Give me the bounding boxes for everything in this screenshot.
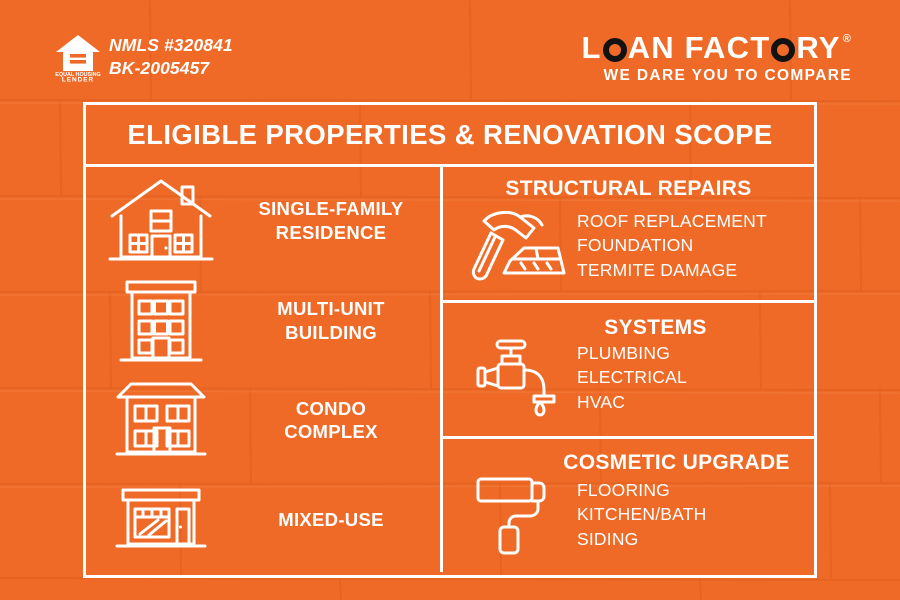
property-label: MIXED-USE: [236, 508, 440, 532]
title-bar: ELIGIBLE PROPERTIES & RENOVATION SCOPE: [86, 105, 814, 167]
list-item[interactable]: SINGLE-FAMILY RESIDENCE: [86, 171, 440, 271]
renovation-scope-column: STRUCTURAL REPAIRS: [443, 167, 814, 572]
nmls-number: NMLS #320841: [109, 34, 233, 57]
scope-title: STRUCTURAL REPAIRS: [451, 177, 806, 201]
brand-text-part2: AN FACT: [628, 32, 771, 63]
single-family-house-icon: [86, 175, 236, 267]
condo-complex-icon: [86, 378, 236, 462]
hammer-and-roof-icon: [451, 203, 577, 289]
scope-body: PLUMBING ELECTRICAL HVAC: [451, 334, 806, 422]
scope-block-cosmetic[interactable]: COSMETIC UPGRADE FLOORING KITCHEN/BATH: [443, 436, 814, 572]
infographic-frame: ELIGIBLE PROPERTIES & RENOVATION SCOPE: [83, 102, 817, 578]
brand-text-part3: RY: [796, 32, 840, 63]
scope-item: TERMITE DAMAGE: [577, 258, 806, 282]
scope-items: PLUMBING ELECTRICAL HVAC: [577, 341, 806, 413]
scope-item: SIDING: [577, 527, 806, 551]
scope-item: ELECTRICAL: [577, 365, 806, 389]
scope-items: FLOORING KITCHEN/BATH SIDING: [577, 478, 806, 550]
loan-factory-brand: L AN FACT RY ® WE DARE YOU TO COMPARE: [581, 32, 852, 85]
property-label-line1: MIXED-USE: [236, 508, 426, 532]
page-header: EQUAL HOUSING LENDER NMLS #320841 BK-200…: [0, 0, 900, 102]
property-label: SINGLE-FAMILY RESIDENCE: [236, 197, 440, 244]
scope-item: HVAC: [577, 390, 806, 414]
property-label-line1: SINGLE-FAMILY: [236, 197, 426, 221]
scope-item: FOUNDATION: [577, 233, 806, 257]
property-label-line2: RESIDENCE: [236, 221, 426, 245]
page-title: ELIGIBLE PROPERTIES & RENOVATION SCOPE: [127, 119, 772, 151]
license-numbers: NMLS #320841 BK-2005457: [109, 34, 233, 80]
scope-item: FLOORING: [577, 478, 806, 502]
scope-body: FLOORING KITCHEN/BATH SIDING: [451, 471, 806, 559]
property-label: MULTI-UNIT BUILDING: [236, 297, 440, 344]
property-label-line2: BUILDING: [236, 321, 426, 345]
scope-body: ROOF REPLACEMENT FOUNDATION TERMITE DAMA…: [451, 203, 806, 289]
registered-trademark-symbol: ®: [843, 34, 852, 45]
scope-item: ROOF REPLACEMENT: [577, 209, 806, 233]
scope-block-systems[interactable]: SYSTEMS: [443, 300, 814, 436]
scope-item: KITCHEN/BATH: [577, 502, 806, 526]
brand-text-part1: L: [581, 32, 601, 63]
equal-housing-lender-logo: EQUAL HOUSING LENDER: [55, 33, 101, 81]
letter-o-ring-icon: [603, 38, 627, 62]
property-label-line2: COMPLEX: [236, 420, 426, 444]
scope-item: PLUMBING: [577, 341, 806, 365]
brand-tagline: WE DARE YOU TO COMPARE: [581, 67, 852, 85]
scope-items: ROOF REPLACEMENT FOUNDATION TERMITE DAMA…: [577, 209, 806, 281]
brand-wordmark: L AN FACT RY ®: [581, 32, 852, 63]
faucet-icon: [451, 334, 577, 422]
content-row: SINGLE-FAMILY RESIDENCE: [86, 167, 814, 572]
letter-o-ring-icon: [771, 38, 795, 62]
paint-roller-icon: [451, 471, 577, 559]
equal-housing-and-license-block: EQUAL HOUSING LENDER NMLS #320841 BK-200…: [55, 33, 233, 81]
bk-number: BK-2005457: [109, 57, 233, 80]
mixed-use-storefront-icon: [86, 484, 236, 556]
multi-unit-building-icon: [86, 276, 236, 366]
list-item[interactable]: MULTI-UNIT BUILDING: [86, 271, 440, 371]
property-label-line1: MULTI-UNIT: [236, 297, 426, 321]
property-label: CONDO COMPLEX: [236, 397, 440, 444]
scope-block-structural[interactable]: STRUCTURAL REPAIRS: [443, 167, 814, 300]
list-item[interactable]: MIXED-USE: [86, 470, 440, 570]
property-label-line1: CONDO: [236, 397, 426, 421]
svg-text:LENDER: LENDER: [62, 77, 94, 84]
eligible-properties-column: SINGLE-FAMILY RESIDENCE: [86, 167, 443, 572]
list-item[interactable]: CONDO COMPLEX: [86, 371, 440, 471]
